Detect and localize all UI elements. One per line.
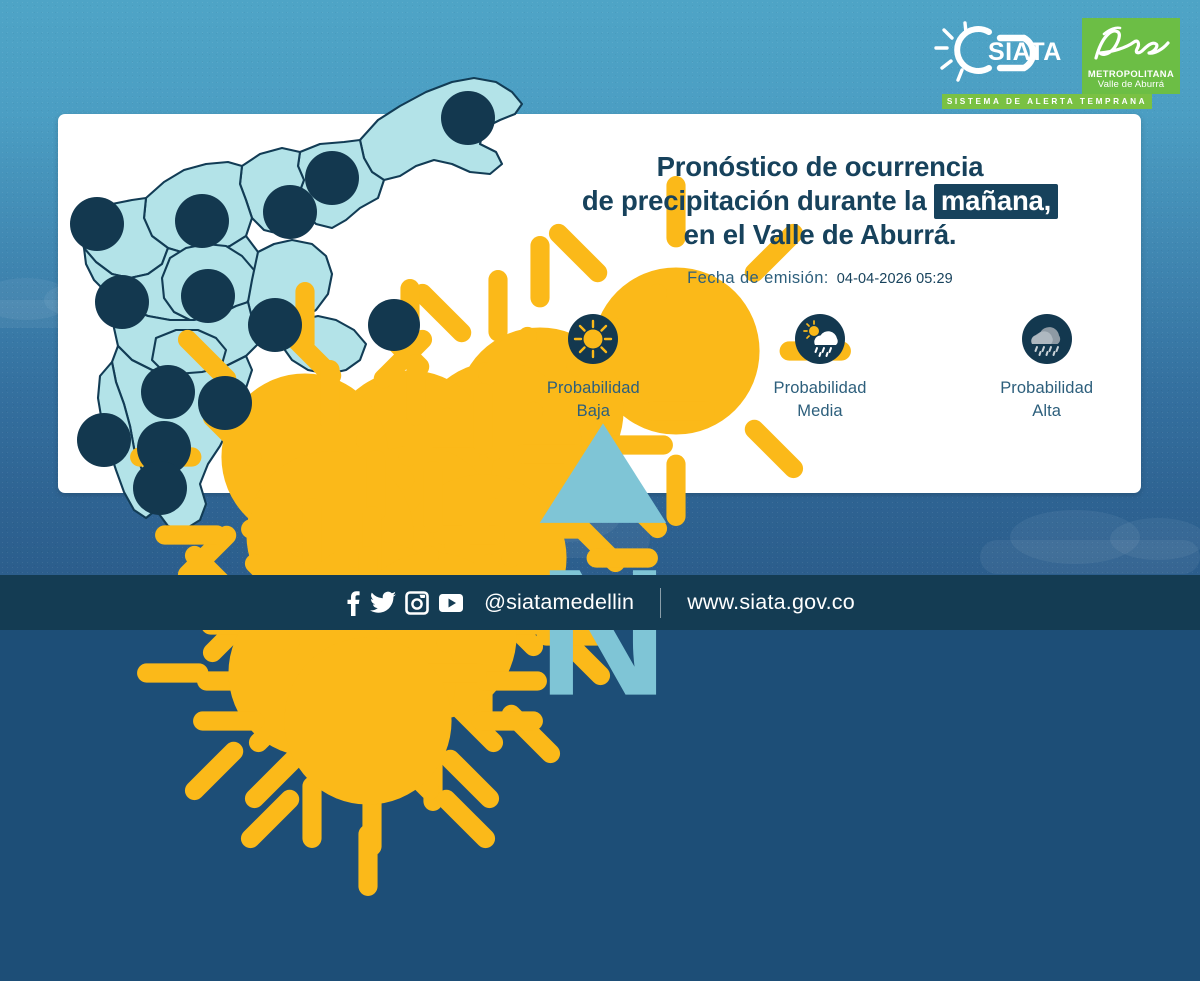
legend-label-line2: Baja [577,402,610,420]
emission-date-value: 04-04-2026 05:29 [837,271,953,287]
emission-date-label: Fecha de emisión: [687,269,829,288]
cloud-rain-icon [1022,314,1072,364]
legend-item-alta: Probabilidad Alta [973,314,1120,423]
sun-rain-icon [795,314,845,364]
twitter-icon[interactable] [370,591,396,615]
footer-divider [660,588,661,618]
instagram-icon[interactable] [405,591,429,615]
svg-text:SIATA: SIATA [988,38,1062,66]
emission-date-row: Fecha de emisión: 04-04-2026 05:29 [520,269,1120,288]
decorative-cloud-icon [340,520,650,558]
legend-label-line1: Probabilidad [1000,379,1093,397]
headline-line-2-text: de precipitación durante la [582,185,927,216]
area-logo-line1: METROPOLITANA [1088,68,1174,79]
forecast-panel: Pronóstico de ocurrencia de precipitació… [520,150,1120,423]
legend-label-line2: Alta [1032,402,1061,420]
headline-highlight: mañana, [934,184,1058,219]
footer-bar: @siatamedellin www.siata.gov.co [0,575,1200,630]
headline-line-2: de precipitación durante la mañana, [520,184,1120,218]
website-url[interactable]: www.siata.gov.co [687,590,855,615]
brand-header: SIATA SISTEMA DE ALERTA TEMPRANA METROPO… [932,18,1180,94]
area-script-icon [1082,22,1180,66]
area-logo-line2: Valle de Aburrá [1098,79,1164,90]
youtube-icon[interactable] [438,593,464,613]
social-handle[interactable]: @siatamedellin [484,590,634,615]
decorative-cloud-icon [980,540,1200,574]
siata-sun-cloud-icon: SIATA [932,18,1072,90]
legend-label-line2: Media [797,402,842,420]
legend-label-media: Probabilidad Media [774,377,867,423]
siata-tagline: SISTEMA DE ALERTA TEMPRANA [942,94,1152,109]
legend-label-alta: Probabilidad Alta [1000,377,1093,423]
legend-label-baja: Probabilidad Baja [547,377,640,423]
facebook-icon[interactable] [345,590,361,616]
sun-icon [568,314,618,364]
legend-label-line1: Probabilidad [774,379,867,397]
siata-logo: SIATA SISTEMA DE ALERTA TEMPRANA [932,18,1072,90]
page-title: Pronóstico de ocurrencia de precipitació… [520,150,1120,252]
legend-label-line1: Probabilidad [547,379,640,397]
area-metropolitana-logo: METROPOLITANA Valle de Aburrá [1082,18,1180,94]
probability-legend: Probabilidad Baja [520,314,1120,423]
headline-line-1: Pronóstico de ocurrencia [520,150,1120,184]
social-links[interactable] [345,590,464,616]
legend-item-media: Probabilidad Media [747,314,894,423]
legend-item-baja: Probabilidad Baja [520,314,667,423]
headline-line-3: en el Valle de Aburrá. [520,218,1120,252]
